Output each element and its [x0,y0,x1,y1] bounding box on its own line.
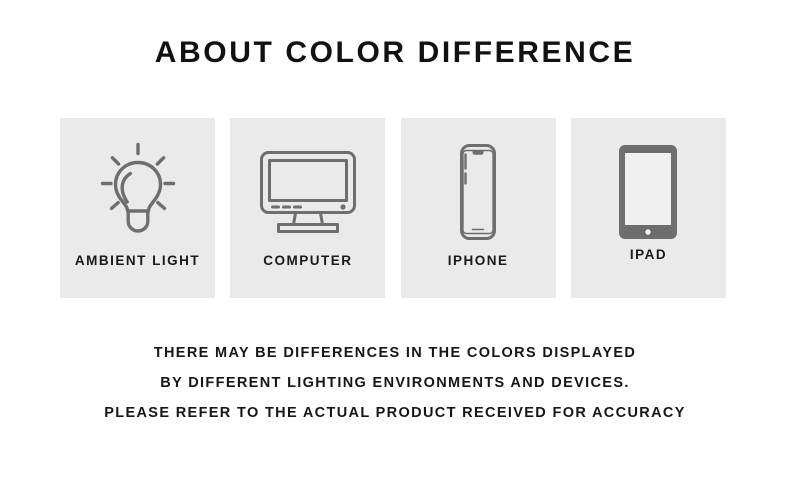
device-card-label: IPAD [571,247,726,262]
smartphone-icon [401,140,556,244]
disclaimer-line: THERE MAY BE DIFFERENCES IN THE COLORS D… [0,338,790,368]
lightbulb-icon [60,140,215,244]
device-card-label: AMBIENT LIGHT [60,253,215,268]
device-card-list: AMBIENT LIGHT COMPUT [60,118,726,298]
device-card-ambient-light: AMBIENT LIGHT [60,118,215,298]
monitor-icon [230,140,385,244]
device-card-iphone: IPHONE [401,118,556,298]
device-card-ipad: IPAD [571,118,726,298]
disclaimer-text: THERE MAY BE DIFFERENCES IN THE COLORS D… [0,338,790,428]
disclaimer-line: BY DIFFERENT LIGHTING ENVIRONMENTS AND D… [0,368,790,398]
color-difference-notice: ABOUT COLOR DIFFERENCE [0,0,790,490]
disclaimer-line: PLEASE REFER TO THE ACTUAL PRODUCT RECEI… [0,398,790,428]
device-card-label: IPHONE [401,253,556,268]
tablet-icon [571,140,726,244]
device-card-label: COMPUTER [230,253,385,268]
page-title: ABOUT COLOR DIFFERENCE [0,36,790,70]
device-card-computer: COMPUTER [230,118,385,298]
